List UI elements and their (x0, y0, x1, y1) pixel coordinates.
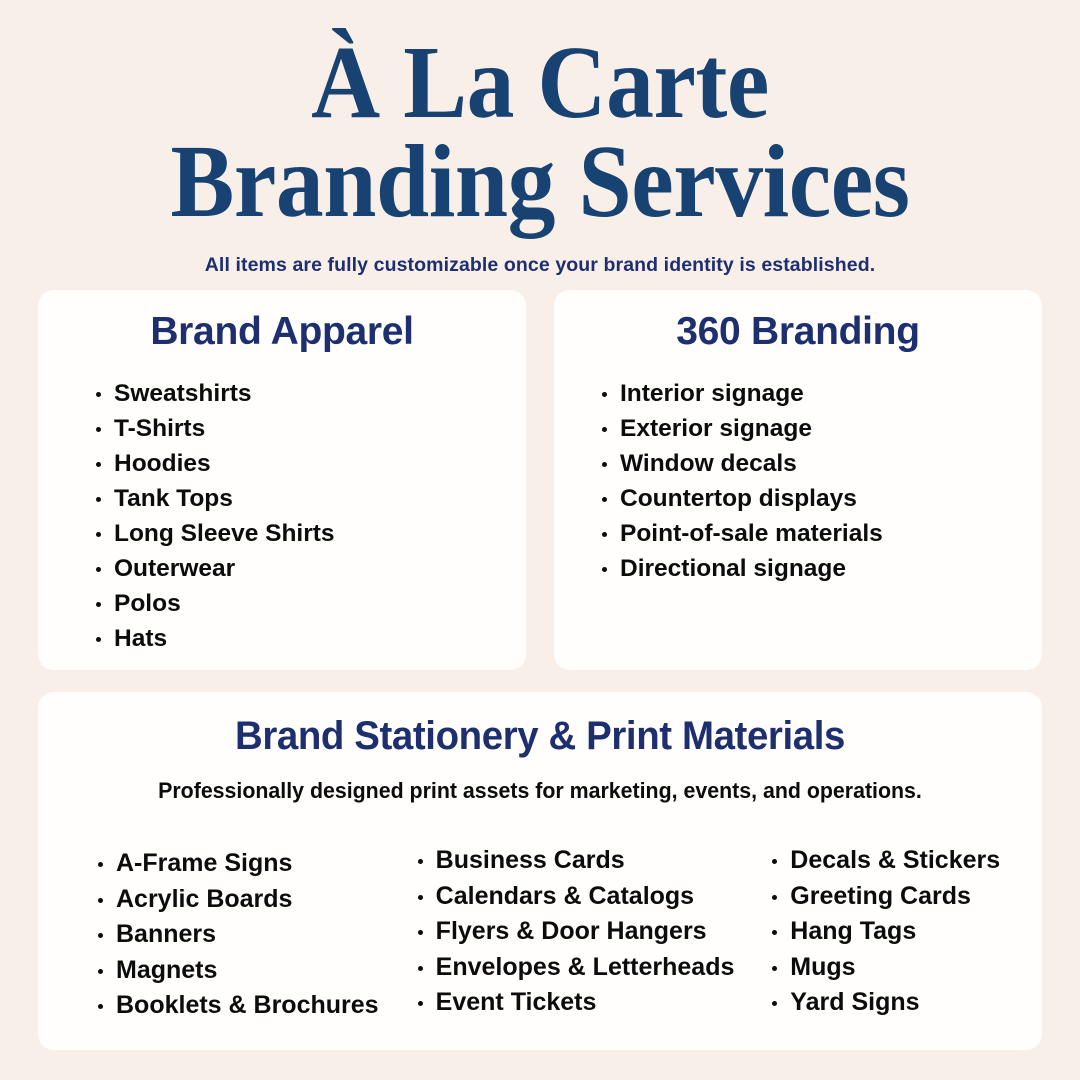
list-item: Magnets (98, 953, 408, 989)
list-item: Exterior signage (602, 411, 1042, 446)
list-item: Greeting Cards (772, 879, 1042, 915)
list-item: A-Frame Signs (98, 846, 408, 882)
list-item: Acrylic Boards (98, 882, 408, 918)
list-item: Yard Signs (772, 985, 1042, 1021)
page-title-line-2: Branding Services (126, 133, 954, 232)
list-item: Outerwear (96, 551, 526, 586)
top-cards-row: Brand Apparel Sweatshirts T-Shirts Hoodi… (38, 290, 1042, 670)
stationery-column-2: Business Cards Calendars & Catalogs Flye… (408, 846, 763, 1024)
page-subtitle: All items are fully customizable once yo… (0, 254, 1080, 277)
card-heading-360-branding: 360 Branding (554, 310, 1042, 354)
list-item: Directional signage (602, 551, 1042, 586)
stationery-list-3: Decals & Stickers Greeting Cards Hang Ta… (772, 843, 1042, 1021)
list-item: Long Sleeve Shirts (96, 516, 526, 551)
stationery-list-2: Business Cards Calendars & Catalogs Flye… (418, 843, 763, 1021)
card-brand-apparel: Brand Apparel Sweatshirts T-Shirts Hoodi… (38, 290, 526, 670)
list-item: Sweatshirts (96, 376, 526, 411)
list-item: Envelopes & Letterheads (418, 950, 763, 986)
stationery-column-1: A-Frame Signs Acrylic Boards Banners Mag… (68, 846, 408, 1024)
card-heading-brand-stationery: Brand Stationery & Print Materials (58, 714, 1022, 759)
list-item: Decals & Stickers (772, 843, 1042, 879)
list-item: Booklets & Brochures (98, 988, 408, 1024)
list-item: Calendars & Catalogs (418, 879, 763, 915)
list-item: Point-of-sale materials (602, 516, 1042, 551)
page-title: À La Carte Branding Services (126, 34, 954, 232)
list-item: Interior signage (602, 376, 1042, 411)
brand-apparel-list: Sweatshirts T-Shirts Hoodies Tank Tops L… (96, 376, 526, 656)
page-header: À La Carte Branding Services All items a… (0, 0, 1080, 277)
list-item: Mugs (772, 950, 1042, 986)
card-heading-brand-apparel: Brand Apparel (38, 310, 526, 354)
stationery-columns: A-Frame Signs Acrylic Boards Banners Mag… (38, 846, 1042, 1024)
stationery-column-3: Decals & Stickers Greeting Cards Hang Ta… (762, 846, 1042, 1024)
list-item: Event Tickets (418, 985, 763, 1021)
card-360-branding: 360 Branding Interior signage Exterior s… (554, 290, 1042, 670)
list-item: Countertop displays (602, 481, 1042, 516)
list-item: Tank Tops (96, 481, 526, 516)
list-item: Business Cards (418, 843, 763, 879)
360-branding-list: Interior signage Exterior signage Window… (602, 376, 1042, 586)
list-item: Hoodies (96, 446, 526, 481)
list-item: Hang Tags (772, 914, 1042, 950)
card-brand-stationery: Brand Stationery & Print Materials Profe… (38, 692, 1042, 1050)
stationery-list-1: A-Frame Signs Acrylic Boards Banners Mag… (98, 846, 408, 1024)
list-item: Hats (96, 621, 526, 656)
list-item: Window decals (602, 446, 1042, 481)
list-item: T-Shirts (96, 411, 526, 446)
list-item: Polos (96, 586, 526, 621)
list-item: Flyers & Door Hangers (418, 914, 763, 950)
card-subtitle-brand-stationery: Professionally designed print assets for… (53, 778, 1027, 804)
page-title-line-1: À La Carte (126, 34, 954, 133)
list-item: Banners (98, 917, 408, 953)
